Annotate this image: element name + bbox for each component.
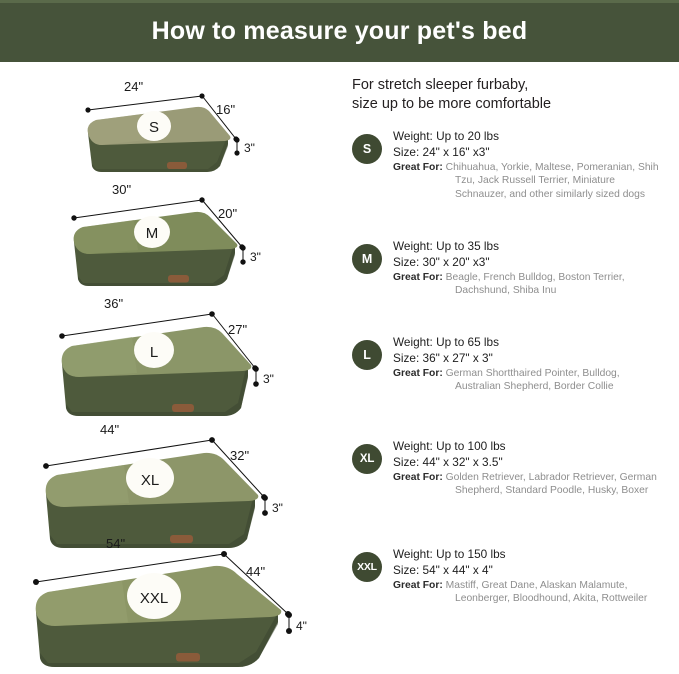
dim-height-xxl: 4" <box>296 619 307 633</box>
weight-value-xl: Up to 100 lbs <box>436 439 506 453</box>
weight-row-xxl: Weight: Up to 150 lbs <box>393 546 679 562</box>
bed-top-highlight-s <box>88 114 146 145</box>
size-row-l: Size: 36" x 27" x 3" <box>393 350 679 366</box>
weight-value-m: Up to 35 lbs <box>436 239 499 253</box>
size-badge-xl: XL <box>352 444 382 474</box>
bed-svg-s: 24" 16" 3" S <box>62 76 312 184</box>
size-label-m: Size: <box>393 255 423 269</box>
size-value-l: 36" x 27" x 3" <box>423 351 493 365</box>
size-row-xxl: Size: 54" x 44" x 4" <box>393 562 679 578</box>
size-row-s: Size: 24" x 16" x3" <box>393 144 679 160</box>
weight-row-m: Weight: Up to 35 lbs <box>393 238 679 254</box>
size-badge-label-l: L <box>363 348 370 362</box>
bed-svg-l: 36" 27" 3" L <box>42 294 332 434</box>
size-badge-xxl: XXL <box>352 552 382 582</box>
weight-row-xl: Weight: Up to 100 lbs <box>393 438 679 454</box>
page-title: How to measure your pet's bed <box>152 17 528 46</box>
size-value-s: 24" x 16" x3" <box>423 145 490 159</box>
intro-text: For stretch sleeper furbaby, size up to … <box>352 76 672 114</box>
great-for-label-m: Great For: <box>393 272 446 283</box>
weight-label-s: Weight: <box>393 129 436 143</box>
great-for-row-xxl: Great For: Mastiff, Great Dane, Alaskan … <box>393 579 663 606</box>
dim-depth-s: 16" <box>216 102 235 117</box>
dim-width-m: 30" <box>112 182 131 197</box>
weight-label-xl: Weight: <box>393 439 436 453</box>
dim-height-xl: 3" <box>272 501 283 515</box>
size-value-xl: 44" x 32" x 3.5" <box>423 455 503 469</box>
dim-height-s: 3" <box>244 141 255 155</box>
size-badge-label-xl: XL <box>360 453 374 465</box>
brand-tag-s <box>167 162 187 169</box>
size-info-xxl: Weight: Up to 150 lbs Size: 54" x 44" x … <box>393 546 679 606</box>
size-badge-label-s: S <box>363 142 371 156</box>
great-for-row-m: Great For: Beagle, French Bulldog, Bosto… <box>393 271 663 298</box>
bed-diagram-m: 30" 20" 3" M <box>52 180 322 302</box>
size-badge-l: L <box>352 340 382 370</box>
bed-diagram-l: 36" 27" 3" L <box>42 294 332 434</box>
size-label-l: Size: <box>393 351 423 365</box>
brand-tag-xxl <box>176 653 200 662</box>
dim-width-s: 24" <box>124 79 143 94</box>
great-for-value-s: Chihuahua, Yorkie, Maltese, Pomeranian, … <box>446 162 659 200</box>
size-row-xl: Size: 44" x 32" x 3.5" <box>393 454 679 470</box>
bed-size-badge-label-l: L <box>150 344 158 361</box>
bed-size-badge-label-xl: XL <box>141 472 159 489</box>
weight-label-m: Weight: <box>393 239 436 253</box>
size-badge-s: S <box>352 134 382 164</box>
great-for-value-m: Beagle, French Bulldog, Boston Terrier, … <box>446 272 625 296</box>
great-for-value-xxl: Mastiff, Great Dane, Alaskan Malamute, L… <box>446 580 648 604</box>
weight-value-l: Up to 65 lbs <box>436 335 499 349</box>
bed-size-badge-label-s: S <box>149 119 159 136</box>
header-bar: How to measure your pet's bed <box>0 0 679 62</box>
brand-tag-m <box>168 275 189 283</box>
bed-diagram-s: 24" 16" 3" S <box>62 76 312 184</box>
size-info-m: Weight: Up to 35 lbs Size: 30" x 20" x3"… <box>393 238 679 298</box>
dim-depth-xl: 32" <box>230 448 249 463</box>
weight-label-xxl: Weight: <box>393 547 436 561</box>
bed-illustrations-column: 24" 16" 3" S <box>0 62 340 674</box>
great-for-value-l: German Shortthaired Pointer, Bulldog, Au… <box>446 368 620 392</box>
weight-row-l: Weight: Up to 65 lbs <box>393 334 679 350</box>
great-for-value-xl: Golden Retriever, Labrador Retriever, Ge… <box>446 472 657 496</box>
size-row-m: Size: 30" x 20" x3" <box>393 254 679 270</box>
size-badge-label-xxl: XXL <box>357 561 377 573</box>
size-details-column: For stretch sleeper furbaby, size up to … <box>340 62 679 674</box>
great-for-row-s: Great For: Chihuahua, Yorkie, Maltese, P… <box>393 161 663 201</box>
size-info-xl: Weight: Up to 100 lbs Size: 44" x 32" x … <box>393 438 679 498</box>
pet-bed-size-guide: How to measure your pet's bed 24" 16" 3" <box>0 0 679 674</box>
intro-line-2: size up to be more comfortable <box>352 95 672 114</box>
great-for-row-xl: Great For: Golden Retriever, Labrador Re… <box>393 471 663 498</box>
size-value-xxl: 54" x 44" x 4" <box>423 563 493 577</box>
dim-width-xxl: 54" <box>106 536 125 551</box>
great-for-label-l: Great For: <box>393 368 446 379</box>
bed-top-highlight-l <box>62 337 137 377</box>
great-for-row-l: Great For: German Shortthaired Pointer, … <box>393 367 663 394</box>
bed-top-highlight-m <box>74 220 138 254</box>
bed-size-badge-label-xxl: XXL <box>140 590 168 607</box>
bed-diagram-xxl: 54" 44" 4" XXL <box>16 534 346 674</box>
brand-tag-l <box>172 404 194 412</box>
size-value-m: 30" x 20" x3" <box>423 255 490 269</box>
size-label-xl: Size: <box>393 455 423 469</box>
dim-width-l: 36" <box>104 296 123 311</box>
great-for-label-xxl: Great For: <box>393 580 446 591</box>
dim-height-m: 3" <box>250 250 261 264</box>
weight-value-xxl: Up to 150 lbs <box>436 547 506 561</box>
weight-row-s: Weight: Up to 20 lbs <box>393 128 679 144</box>
size-badge-m: M <box>352 244 382 274</box>
dim-depth-xxl: 44" <box>246 564 265 579</box>
bed-svg-xxl: 54" 44" 4" XXL <box>16 534 346 674</box>
weight-label-l: Weight: <box>393 335 436 349</box>
dim-height-l: 3" <box>263 372 274 386</box>
bed-size-badge-label-m: M <box>146 225 159 242</box>
size-info-s: Weight: Up to 20 lbs Size: 24" x 16" x3"… <box>393 128 679 201</box>
dim-depth-l: 27" <box>228 322 247 337</box>
dim-width-xl: 44" <box>100 422 119 437</box>
bed-top-highlight-xxl <box>36 581 128 626</box>
great-for-label-s: Great For: <box>393 162 446 173</box>
size-badge-label-m: M <box>362 252 372 266</box>
size-label-xxl: Size: <box>393 563 423 577</box>
great-for-label-xl: Great For: <box>393 472 446 483</box>
header-top-hairline <box>0 0 679 3</box>
bed-svg-m: 30" 20" 3" M <box>52 180 322 302</box>
intro-line-1: For stretch sleeper furbaby, <box>352 77 528 93</box>
weight-value-s: Up to 20 lbs <box>436 129 499 143</box>
bed-top-highlight-xl <box>46 465 129 507</box>
size-label-s: Size: <box>393 145 423 159</box>
size-info-l: Weight: Up to 65 lbs Size: 36" x 27" x 3… <box>393 334 679 394</box>
dim-depth-m: 20" <box>218 206 237 221</box>
